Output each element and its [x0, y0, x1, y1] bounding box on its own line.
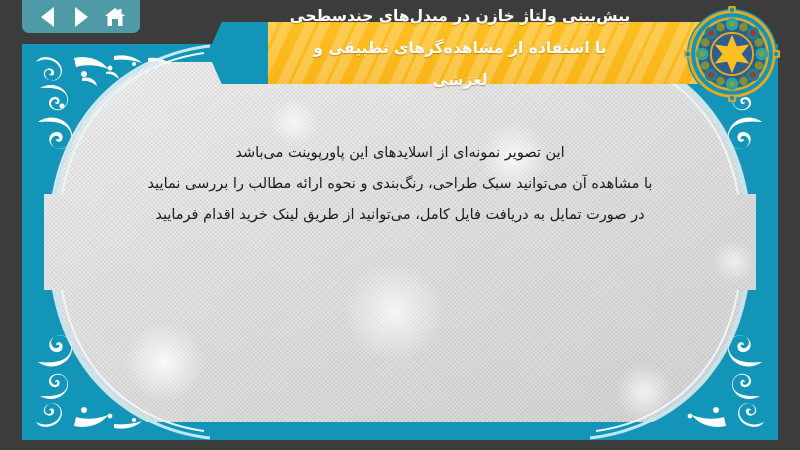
next-slide-button[interactable]: [68, 6, 94, 28]
arrow-left-icon: [41, 7, 54, 27]
title-line-2: با استفاده از مشاهده‌گرهای تطبیقی و: [230, 32, 690, 64]
persian-medallion-icon: [684, 6, 780, 102]
body-line-2: با مشاهده آن می‌توانید سبک طراحی، رنگ‌بن…: [22, 169, 778, 200]
prev-slide-button[interactable]: [34, 6, 60, 28]
slide-frame: این تصویر نمونه‌ای از اسلایدهای این پاور…: [22, 44, 778, 440]
arrow-right-icon: [75, 7, 88, 27]
navigation-bar: [22, 0, 140, 33]
title-line-1: پیش‌بینی ولتاژ خازن در مبدل‌های چندسطحی: [230, 0, 690, 32]
title-line-3: لغزشی: [230, 64, 690, 96]
body-line-1: این تصویر نمونه‌ای از اسلایدهای این پاور…: [22, 138, 778, 169]
slide-viewer: این تصویر نمونه‌ای از اسلایدهای این پاور…: [0, 0, 800, 450]
slide-body-text: این تصویر نمونه‌ای از اسلایدهای این پاور…: [22, 138, 778, 231]
home-icon: [104, 7, 126, 27]
slide-content-panel: [44, 62, 756, 422]
slide-title: پیش‌بینی ولتاژ خازن در مبدل‌های چندسطحی …: [230, 0, 690, 96]
body-line-3: در صورت تمایل به دریافت فایل کامل، می‌تو…: [22, 200, 778, 231]
home-button[interactable]: [102, 6, 128, 28]
